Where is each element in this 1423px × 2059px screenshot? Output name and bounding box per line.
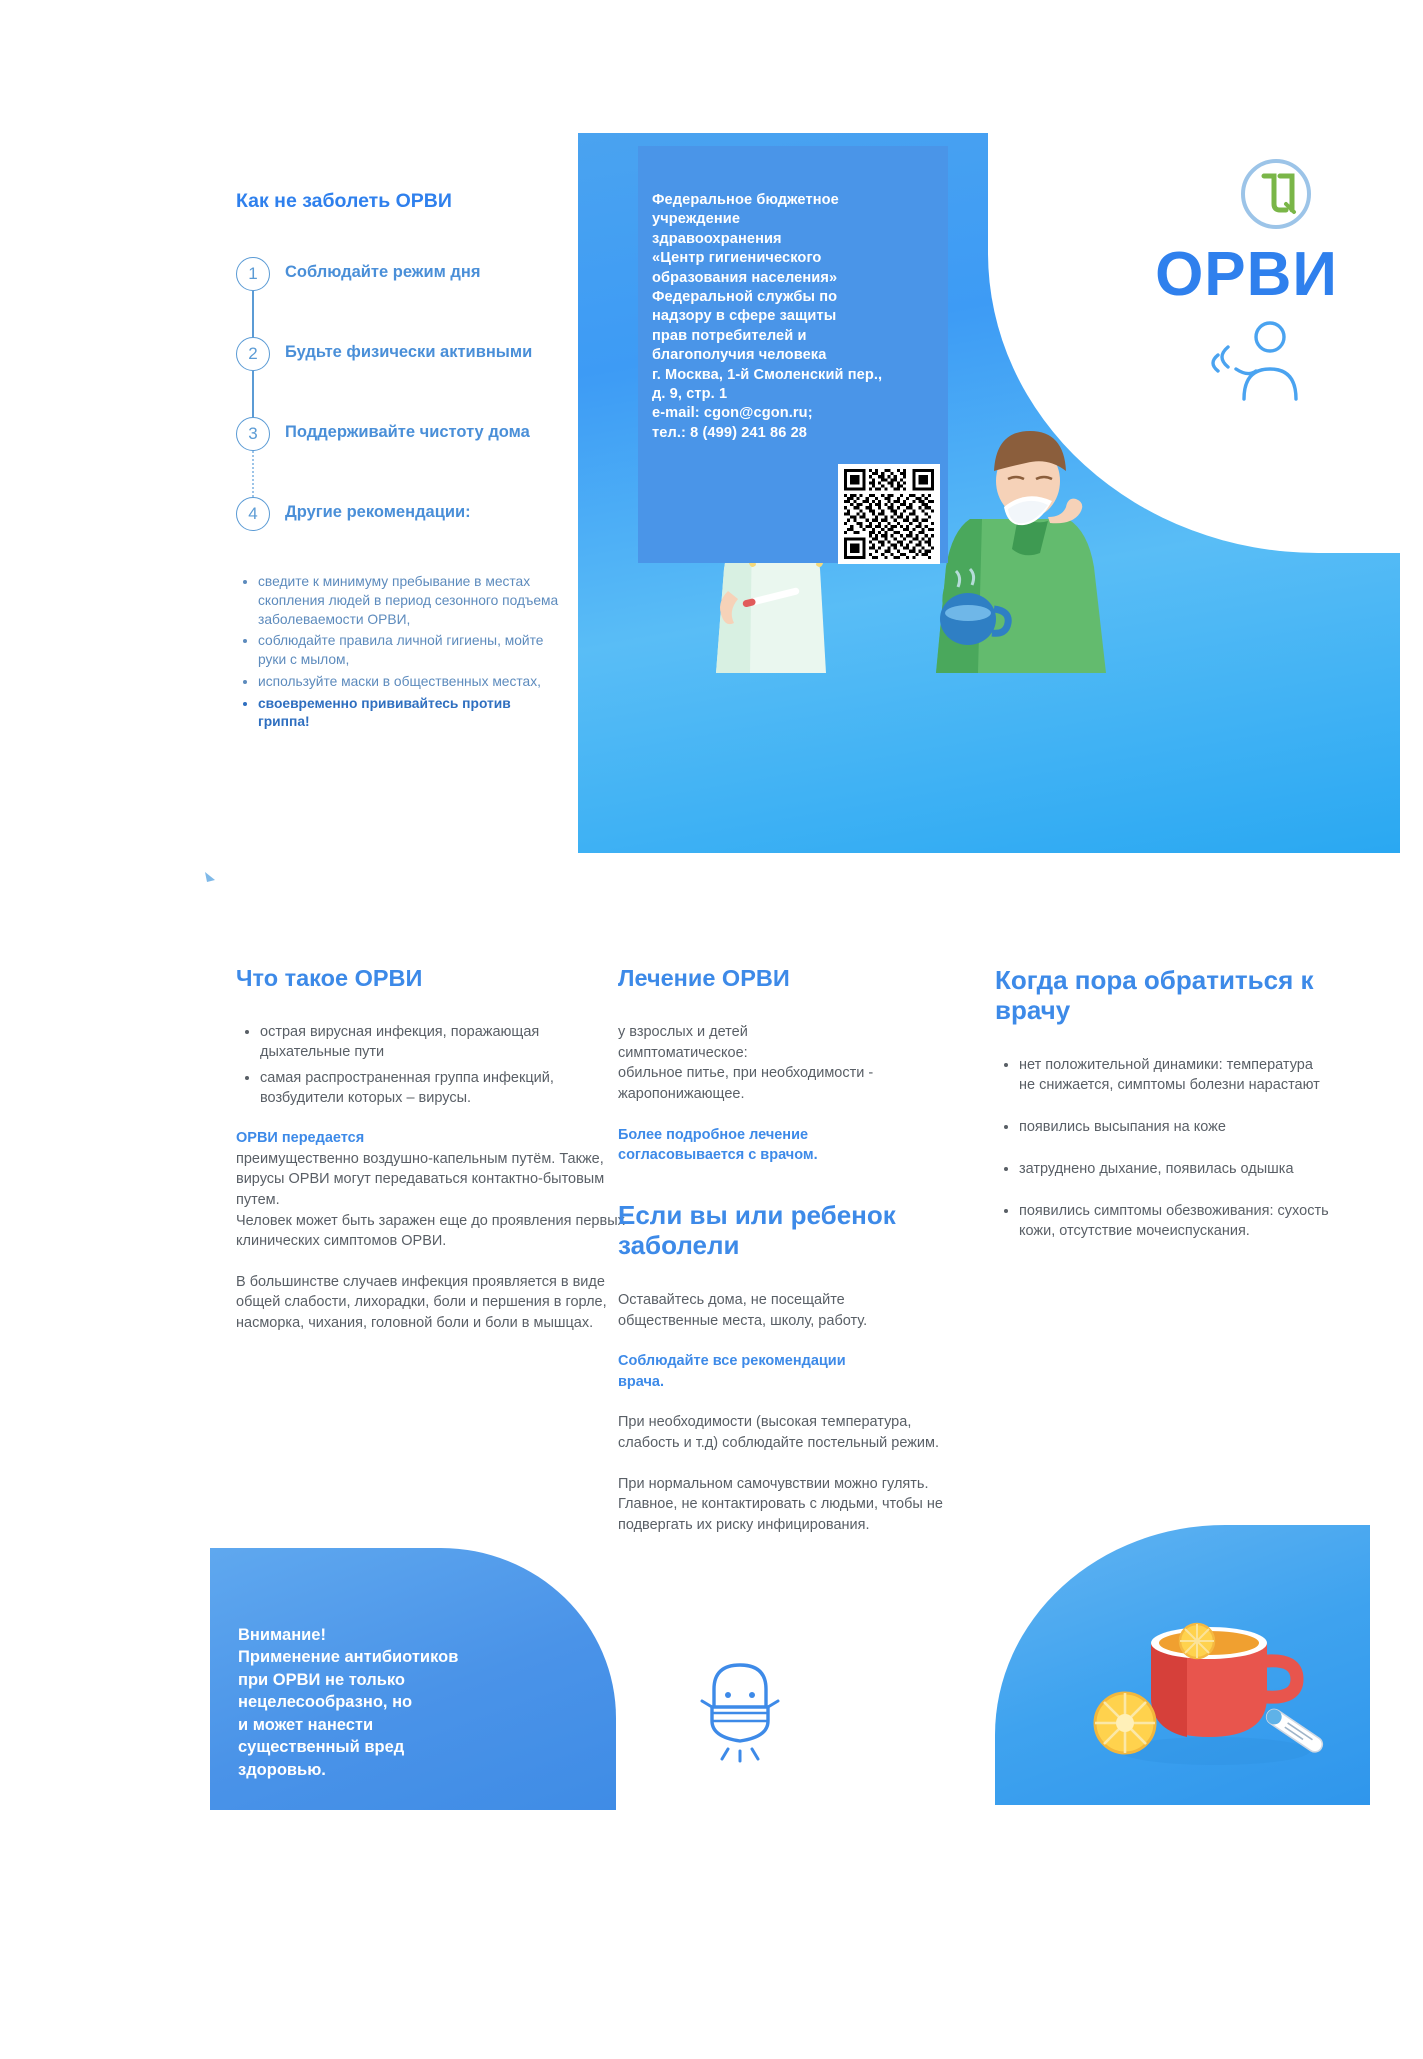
list-item: появились симптомы обезвоживания: сухост…: [1019, 1201, 1330, 1241]
step-connector-3-dotted: [252, 451, 254, 497]
step-number-3: 3: [236, 417, 270, 451]
list-item: нет положительной динамики: температура …: [1019, 1055, 1330, 1095]
organization-text: Федеральное бюджетное учреждение здравоо…: [652, 191, 934, 443]
if-sick-paragraph-3: При нормальном самочувствии можно гулять…: [618, 1474, 948, 1536]
list-item: своевременно прививайтесь против гриппа!: [258, 695, 566, 733]
section-title-if-sick: Если вы или ребенок заболели: [618, 1200, 948, 1260]
section-title-treatment: Лечение ОРВИ: [618, 965, 948, 992]
list-item: появились высыпания на коже: [1019, 1117, 1330, 1137]
tea-with-lemon-illustration: [1065, 1581, 1345, 1781]
fold-corner-mark: [203, 870, 217, 888]
masked-face-icon: [690, 1655, 790, 1765]
what-is-bullets: острая вирусная инфекция, поражающая дых…: [236, 1022, 626, 1108]
how-not-to-get-sick-section: Как не заболеть ОРВИ 1 Соблюдайте режим …: [236, 190, 566, 735]
warning-text: Внимание! Применение антибиотиков при ОР…: [238, 1624, 568, 1781]
step-number-4: 4: [236, 497, 270, 531]
qr-code-image: [843, 469, 935, 559]
step-item-1: 1 Соблюдайте режим дня: [236, 257, 566, 291]
step-label-3: Поддерживайте чистоту дома: [285, 417, 530, 443]
cover-panel: Федеральное бюджетное учреждение здравоо…: [578, 133, 1400, 853]
cgon-logo-icon: [1238, 156, 1314, 232]
step-number-2: 2: [236, 337, 270, 371]
transmission-text: преимущественно воздушно-капельным путём…: [236, 1149, 626, 1252]
coughing-person-icon: [1194, 313, 1314, 413]
tea-illustration-block: [995, 1525, 1370, 1805]
treatment-note: Более подробное лечение согласовывается …: [618, 1125, 948, 1166]
step-number-1: 1: [236, 257, 270, 291]
list-item: затруднено дыхание, появилась одышка: [1019, 1159, 1330, 1179]
howto-recommendations-list: сведите к минимуму пребывание в местах с…: [236, 573, 566, 732]
step-connector-1: [252, 291, 254, 337]
steps-list: 1 Соблюдайте режим дня 2 Будьте физическ…: [236, 257, 566, 531]
when-to-see-doctor-section: Когда пора обратиться к врачу нет положи…: [995, 965, 1330, 1263]
if-sick-paragraph-1: Оставайтесь дома, не посещайте обществен…: [618, 1290, 948, 1331]
symptoms-text: В большинстве случаев инфекция проявляет…: [236, 1272, 626, 1334]
brochure-page: Федеральное бюджетное учреждение здравоо…: [0, 0, 1423, 2059]
step-item-2: 2 Будьте физически активными: [236, 337, 566, 371]
list-item: самая распространенная группа инфекций, …: [260, 1068, 626, 1108]
list-item: используйте маски в общественных местах,: [258, 673, 566, 692]
step-connector-2: [252, 371, 254, 417]
transmission-lead: ОРВИ передается: [236, 1128, 626, 1149]
when-doctor-bullets: нет положительной динамики: температура …: [995, 1055, 1330, 1241]
list-item: острая вирусная инфекция, поражающая дых…: [260, 1022, 626, 1062]
section-title-what-is: Что такое ОРВИ: [236, 965, 626, 992]
step-item-3: 3 Поддерживайте чистоту дома: [236, 417, 566, 451]
qr-code: [838, 464, 940, 564]
list-item: сведите к минимуму пребывание в местах с…: [258, 573, 566, 629]
organization-info-block: Федеральное бюджетное учреждение здравоо…: [638, 146, 948, 563]
if-sick-note: Соблюдайте все рекомендации врача.: [618, 1351, 948, 1392]
step-label-4: Другие рекомендации:: [285, 497, 471, 523]
transmission-block: ОРВИ передается преимущественно воздушно…: [236, 1128, 626, 1251]
antibiotics-warning-box: Внимание! Применение антибиотиков при ОР…: [210, 1548, 616, 1810]
treatment-text: у взрослых и детей симптоматическое: оби…: [618, 1022, 948, 1104]
step-label-1: Соблюдайте режим дня: [285, 257, 481, 283]
howto-title: Как не заболеть ОРВИ: [236, 190, 566, 213]
step-label-2: Будьте физически активными: [285, 337, 532, 363]
treatment-section: Лечение ОРВИ у взрослых и детей симптома…: [618, 965, 948, 1535]
page-title: ОРВИ: [1155, 239, 1338, 310]
if-sick-paragraph-2: При необходимости (высокая температура, …: [618, 1412, 948, 1453]
step-item-4: 4 Другие рекомендации:: [236, 497, 566, 531]
section-title-when-doctor: Когда пора обратиться к врачу: [995, 965, 1330, 1025]
what-is-arvi-section: Что такое ОРВИ острая вирусная инфекция,…: [236, 965, 626, 1333]
list-item: соблюдайте правила личной гигиены, мойте…: [258, 632, 566, 670]
